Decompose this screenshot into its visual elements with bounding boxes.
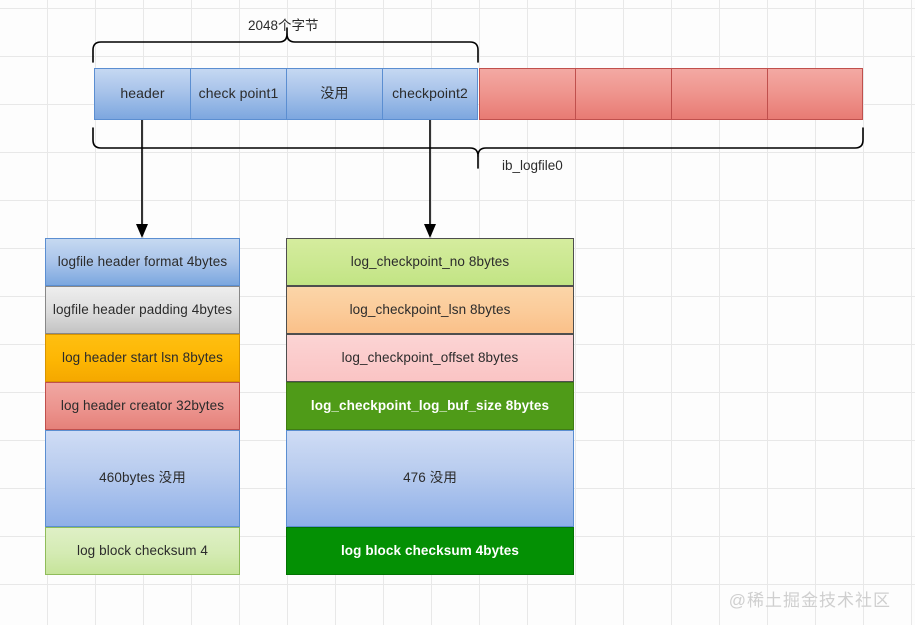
header-block-checksum[interactable]: log block checksum 4 — [45, 527, 240, 575]
strip-cell-unused[interactable]: 没用 — [286, 68, 382, 120]
strip-cell-header[interactable]: header — [94, 68, 190, 120]
size-label: 2048个字节 — [248, 14, 319, 34]
arrow-header-head — [136, 224, 148, 238]
header-block-start-lsn[interactable]: log header start lsn 8bytes — [45, 334, 240, 382]
checkpoint-block-offset[interactable]: log_checkpoint_offset 8bytes — [286, 334, 574, 382]
header-block-creator[interactable]: log header creator 32bytes — [45, 382, 240, 430]
checkpoint-block-no[interactable]: log_checkpoint_no 8bytes — [286, 238, 574, 286]
header-block-padding[interactable]: logfile header padding 4bytes — [45, 286, 240, 334]
watermark: @稀土掘金技术社区 — [729, 586, 891, 611]
checkpoint-block-lsn[interactable]: log_checkpoint_lsn 8bytes — [286, 286, 574, 334]
header-block-unused[interactable]: 460bytes 没用 — [45, 430, 240, 527]
file-label: ib_logfile0 — [502, 158, 563, 173]
strip-cell-checkpoint1[interactable]: check point1 — [190, 68, 286, 120]
strip-cell-checkpoint2[interactable]: checkpoint2 — [382, 68, 478, 120]
strip-cell-data-2[interactable] — [575, 68, 671, 120]
strip-cell-data-3[interactable] — [671, 68, 767, 120]
strip-cell-data-1[interactable] — [479, 68, 575, 120]
strip-cell-data-4[interactable] — [767, 68, 863, 120]
checkpoint-block-log-buf-size[interactable]: log_checkpoint_log_buf_size 8bytes — [286, 382, 574, 430]
header-block-format[interactable]: logfile header format 4bytes — [45, 238, 240, 286]
bottom-brace — [93, 128, 863, 156]
top-brace — [93, 34, 478, 62]
checkpoint-block-unused[interactable]: 476 没用 — [286, 430, 574, 527]
checkpoint-block-checksum[interactable]: log block checksum 4bytes — [286, 527, 574, 575]
diagram-canvas: 2048个字节 ib_logfile0 header check point1 … — [0, 0, 915, 625]
arrow-checkpoint-head — [424, 224, 436, 238]
